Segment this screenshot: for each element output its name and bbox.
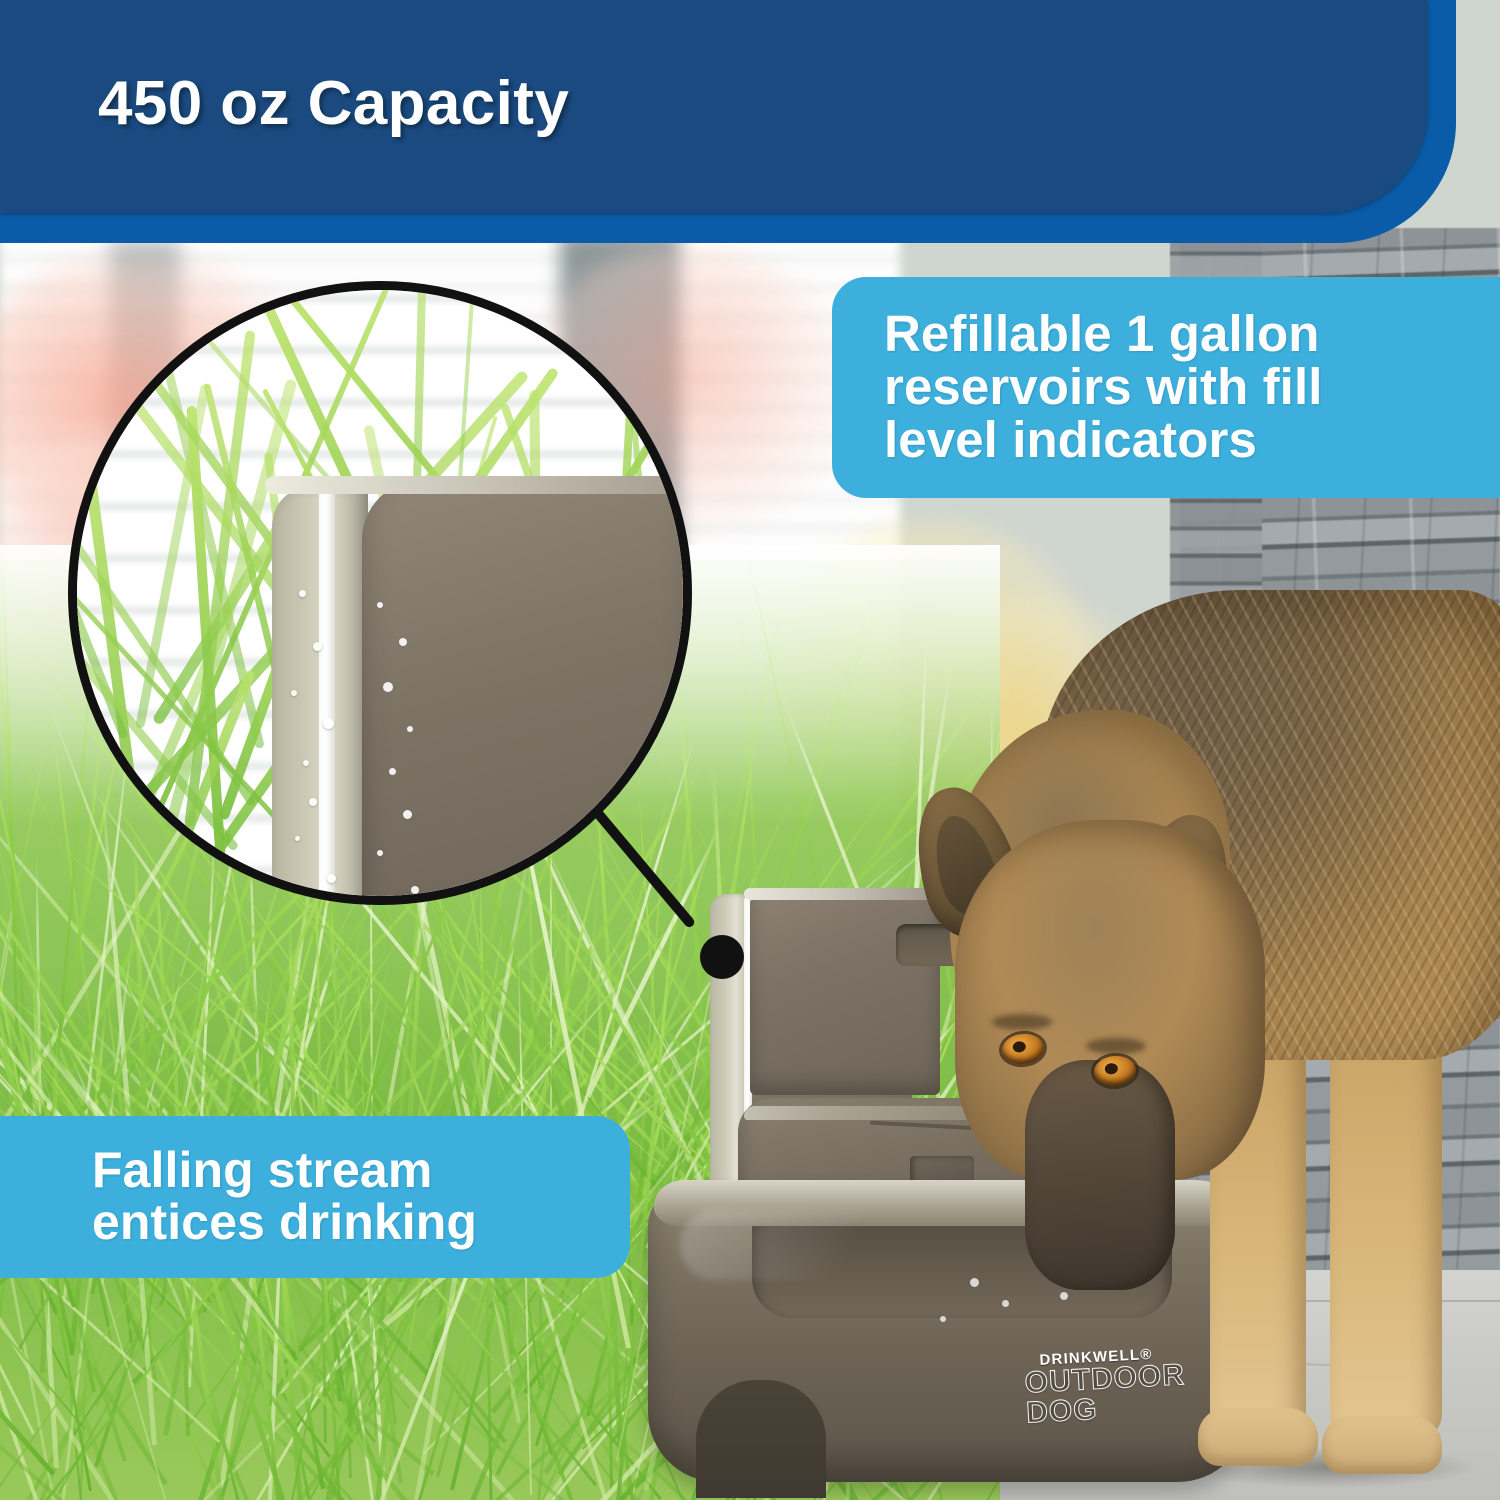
zoom-water-droplet [299, 590, 306, 597]
zoom-water-droplet [383, 682, 393, 692]
banner-title: 450 oz Capacity [98, 68, 569, 139]
callout-line: Falling stream [92, 1144, 590, 1196]
callout-line: reservoirs with fill [884, 360, 1496, 413]
zoom-water-droplet [295, 836, 300, 841]
dog-paw [1198, 1408, 1318, 1466]
dog-muzzle [1025, 1060, 1175, 1290]
callout-line: level indicators [884, 413, 1496, 466]
zoom-reservoir-top-bevel [265, 476, 692, 494]
basin-arch-cutout [696, 1380, 826, 1498]
zoom-fill-level-indicator [319, 488, 335, 905]
callout-reservoir: Refillable 1 gallon reservoirs with fill… [832, 277, 1500, 498]
zoom-water-droplet [291, 690, 297, 696]
zoom-water-droplet [403, 810, 412, 819]
product-feature-image: DRINKWELL® OUTDOOR DOG [0, 0, 1500, 1500]
zoom-water-droplet [377, 602, 383, 608]
zoom-water-droplet [377, 850, 383, 856]
callout-stream: Falling stream entices drinking [0, 1116, 630, 1278]
callout-line: Refillable 1 gallon [884, 307, 1496, 360]
zoom-water-droplet [389, 768, 396, 775]
zoom-water-droplet [303, 760, 309, 766]
callout-line: entices drinking [92, 1196, 590, 1248]
zoom-water-droplet [411, 886, 419, 894]
magnifier-circle [68, 281, 692, 905]
dog-brow [992, 1014, 1052, 1030]
zoom-water-droplet [645, 742, 652, 749]
zoom-water-droplet [309, 798, 317, 806]
zoom-water-droplet [327, 874, 336, 883]
zoom-water-droplet [323, 718, 334, 729]
zoom-reservoir-front-face [362, 480, 692, 905]
zoom-water-droplet [407, 726, 413, 732]
dog [880, 590, 1500, 1500]
zoom-water-droplet [617, 810, 623, 816]
dog-brow [1086, 1038, 1146, 1054]
zoom-water-droplet [313, 642, 322, 651]
magnifier-pointer-dot [700, 935, 744, 979]
dog-paw [1322, 1416, 1442, 1474]
zoom-water-droplet [399, 638, 407, 646]
